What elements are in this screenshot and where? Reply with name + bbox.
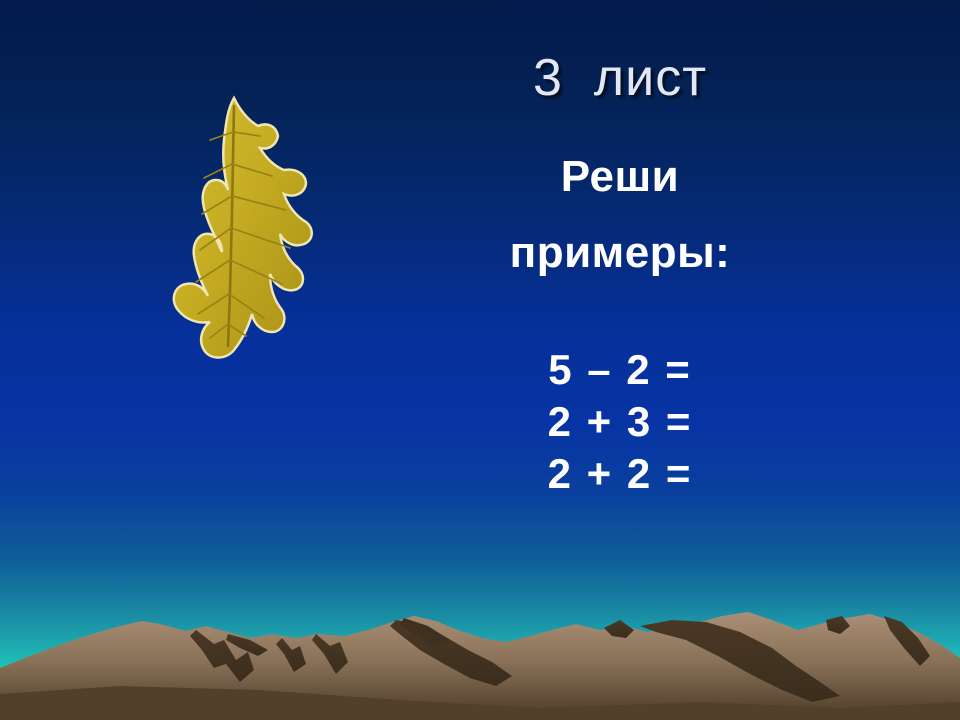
oak-leaf-blade bbox=[174, 98, 312, 358]
equation-item: 2 + 2 = bbox=[420, 448, 820, 500]
prompt-line-2: примеры: bbox=[420, 228, 820, 278]
mountain-range bbox=[0, 590, 960, 720]
page-title: 3 лист bbox=[420, 48, 820, 108]
oak-leaf-icon bbox=[148, 92, 318, 392]
presentation-slide: 3 лист Реши примеры: 5 – 2 = 2 + 3 = 2 +… bbox=[0, 0, 960, 720]
prompt-line-1: Реши bbox=[420, 152, 820, 202]
equation-item: 5 – 2 = bbox=[420, 344, 820, 396]
equation-list: 5 – 2 = 2 + 3 = 2 + 2 = bbox=[420, 344, 820, 500]
equation-item: 2 + 3 = bbox=[420, 396, 820, 448]
